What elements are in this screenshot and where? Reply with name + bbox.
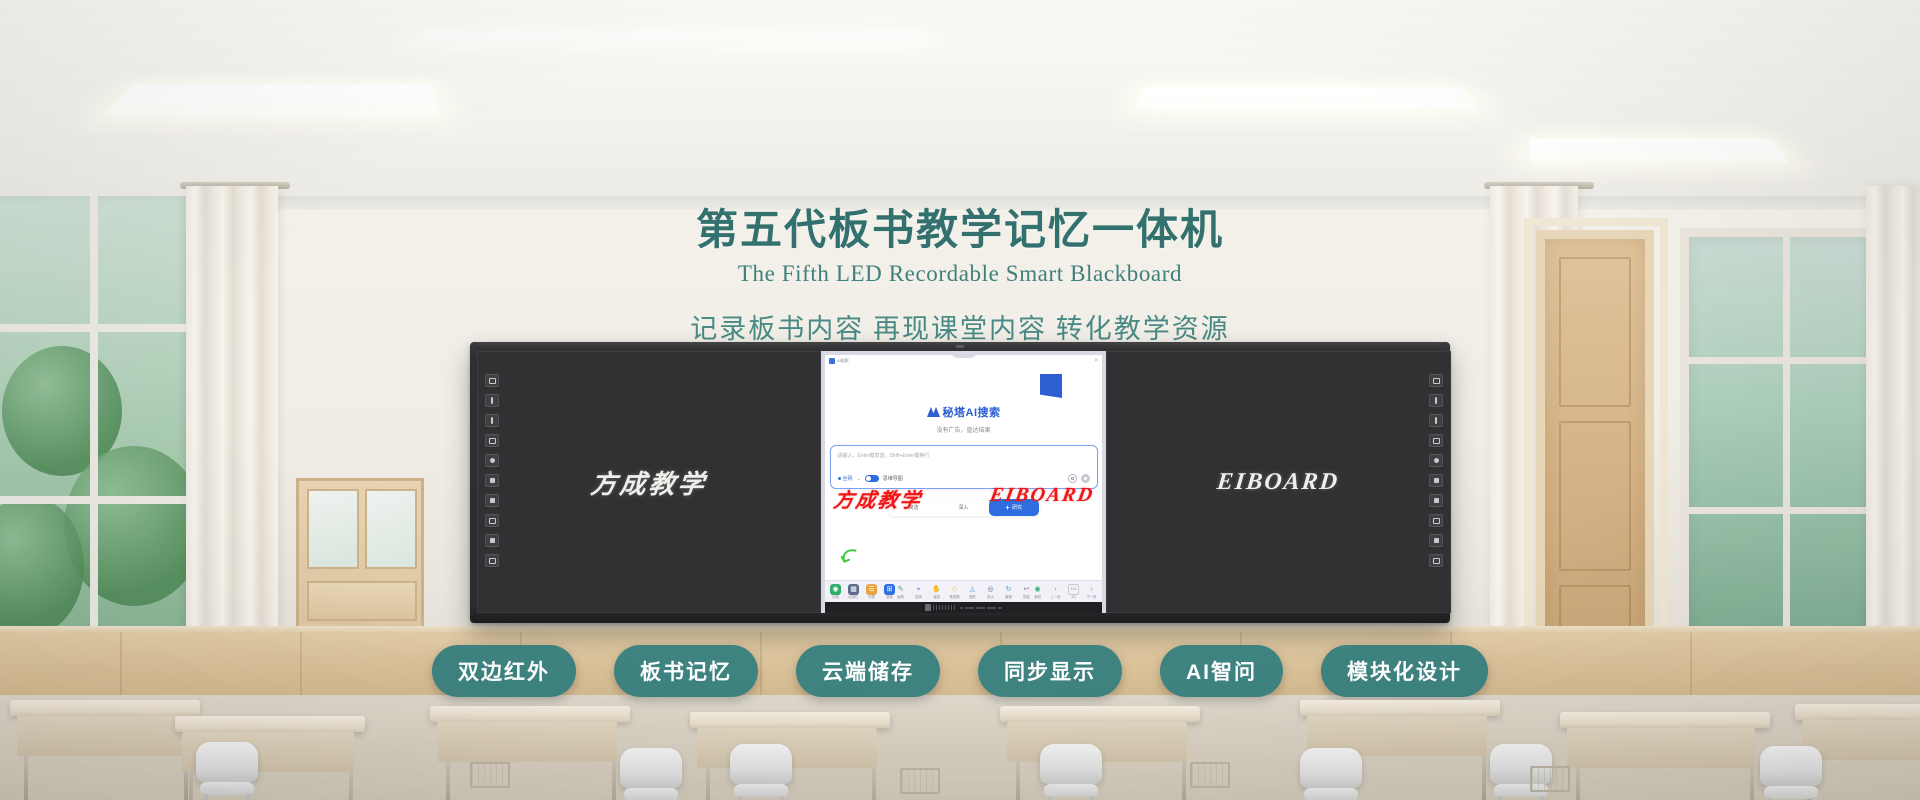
toolbar-label: 记录	[832, 596, 839, 599]
app-bottom-toolbar[interactable]: ◉ 记录 ▦ 应用栏 ☰ 列表	[825, 580, 1102, 602]
toolbar-item-eraser[interactable]: ◇ 橡皮擦	[949, 584, 960, 599]
handwriting-annotation-cn: 方成教学	[832, 484, 924, 513]
right-button-rail[interactable]	[1429, 374, 1443, 567]
toolbar-label: 应用栏	[848, 596, 858, 599]
grid-icon[interactable]	[1429, 534, 1443, 547]
app-window-title: AI搜索	[837, 359, 849, 363]
toolbar-label: 图形	[969, 596, 976, 599]
ceiling-light-panel	[104, 84, 439, 115]
curtain-far-right	[1866, 186, 1920, 664]
screen-base-bezel	[825, 602, 1102, 613]
brand-tagline: 没有广告，直达结果	[825, 425, 1102, 434]
grid-icon[interactable]	[485, 534, 499, 547]
toolbar-item-shape[interactable]: ◬ 图形	[967, 584, 978, 599]
toolbar-label: 选择	[915, 596, 922, 599]
toolbar-left-group[interactable]: ◉ 记录 ▦ 应用栏 ☰ 列表	[830, 584, 895, 599]
mindmap-toggle-label: 思维导图	[883, 475, 903, 482]
blackboard-left-panel[interactable]: 方成教学	[477, 351, 821, 613]
toolbar-label: 列表	[868, 596, 875, 599]
brand-name: 秘塔AI搜索	[943, 404, 1001, 420]
apps-icon: ▦	[848, 584, 859, 595]
prev-icon: ‹	[1050, 584, 1061, 595]
marker-icon[interactable]	[485, 414, 499, 427]
toolbar-item-next[interactable]: › 下一页	[1086, 584, 1097, 599]
ceiling-edge	[0, 196, 1920, 210]
pen-icon[interactable]	[1429, 394, 1443, 407]
undo-stroke-icon	[839, 546, 861, 568]
bookmark-flag-icon	[1040, 374, 1062, 398]
ceiling-light-panel	[413, 31, 927, 43]
left-button-rail[interactable]	[485, 374, 499, 567]
mode-button-deep[interactable]: 深入	[939, 499, 989, 516]
toolbar-label: 放大	[987, 596, 994, 599]
record-icon[interactable]	[1429, 454, 1443, 467]
toolbar-label: 1/1	[1071, 596, 1076, 599]
ai-search-app[interactable]: AI搜索 × 秘塔AI搜索 没有广告，直达结果 请输入，Enter键发送，Shi…	[825, 355, 1102, 602]
toolbar-label: 撤销	[1005, 596, 1012, 599]
toolbar-item-desktop[interactable]: ⊞ 桌面	[884, 584, 895, 599]
split-icon[interactable]	[485, 514, 499, 527]
refresh-icon[interactable]	[1429, 554, 1443, 567]
zoom-icon: ◎	[985, 584, 996, 595]
feature-pill-dual-infrared[interactable]: 双边红外	[432, 645, 576, 697]
scope-dot-icon	[838, 477, 841, 480]
app-logo-icon	[829, 358, 835, 364]
toolbar-item-hand[interactable]: ✋ 漫游	[931, 584, 942, 599]
feature-pill-row[interactable]: 双边红外 板书记忆 云端储存 同步显示 AI智问 模块化设计	[0, 645, 1920, 697]
curtain-left	[186, 186, 278, 656]
undo-icon: ↩	[1021, 584, 1032, 595]
close-icon[interactable]: ×	[1094, 358, 1098, 364]
chevron-down-icon[interactable]: ⌄	[857, 476, 861, 482]
record-icon: ◉	[830, 584, 841, 595]
toolbar-label: 上一页	[1050, 596, 1060, 599]
toolbar-right-group[interactable]: ◉ 录制 ‹ 上一页 1/1 1/1	[1032, 584, 1097, 599]
pen-icon[interactable]	[485, 394, 499, 407]
toolbar-label: 下一页	[1086, 596, 1096, 599]
scope-label: 全网	[843, 475, 853, 482]
blackboard-right-panel[interactable]: EIBOARD	[1106, 351, 1451, 613]
windows-icon: ⊞	[884, 584, 895, 595]
right-window	[1680, 228, 1880, 648]
app-content[interactable]: 秘塔AI搜索 没有广告，直达结果 请输入，Enter键发送，Shift+Ente…	[825, 366, 1102, 580]
desk-basket	[470, 762, 510, 788]
toolbar-item-page[interactable]: 1/1 1/1	[1068, 584, 1079, 599]
ceiling-light-panel	[1137, 87, 1481, 109]
feature-pill-sync-display[interactable]: 同步显示	[978, 645, 1122, 697]
page-indicator: 1/1	[1068, 584, 1079, 595]
feature-pill-board-memory[interactable]: 板书记忆	[614, 645, 758, 697]
toolbar-center-group[interactable]: ✎ 画笔 ⌖ 选择 ✋ 漫游	[895, 584, 1032, 599]
refresh-icon[interactable]	[485, 554, 499, 567]
battery-icon[interactable]	[485, 474, 499, 487]
camera-notch-icon	[951, 351, 977, 358]
toolbar-item-prev[interactable]: ‹ 上一页	[1050, 584, 1061, 599]
toolbar-item-capture[interactable]: ◉ 录制	[1032, 584, 1043, 599]
toolbar-item-select[interactable]: ⌖ 选择	[913, 584, 924, 599]
sensor-icon	[956, 345, 964, 348]
shape-icon: ◬	[967, 584, 978, 595]
scope-selector[interactable]: 全网	[838, 475, 853, 482]
page-icon[interactable]	[485, 434, 499, 447]
screen-icon[interactable]	[485, 374, 499, 387]
desk-basket	[1530, 766, 1570, 792]
toolbar-label: 恢复	[1023, 596, 1030, 599]
toolbar-item-list[interactable]: ☰ 列表	[866, 584, 877, 599]
feature-pill-ai-ask[interactable]: AI智问	[1160, 645, 1283, 697]
classroom-door[interactable]	[1536, 230, 1654, 660]
handwriting-annotation-en: EIBOARD	[988, 484, 1096, 507]
toolbar-label: 橡皮擦	[949, 596, 959, 599]
feature-pill-cloud-storage[interactable]: 云端储存	[796, 645, 940, 697]
toolbar-item-rotate[interactable]: ↻ 撤销	[1003, 584, 1014, 599]
camera-icon[interactable]	[1068, 474, 1077, 483]
battery-icon[interactable]	[1429, 474, 1443, 487]
toolbar-item-pen[interactable]: ✎ 画笔	[895, 584, 906, 599]
feature-pill-modular-design[interactable]: 模块化设计	[1321, 645, 1488, 697]
eraser-icon: ◇	[949, 584, 960, 595]
right-panel-chalk-text: EIBOARD	[1216, 469, 1341, 496]
toolbar-label: 画笔	[897, 596, 904, 599]
send-icon[interactable]	[1081, 474, 1090, 483]
toolbar-label: 桌面	[886, 596, 893, 599]
pen-icon: ✎	[895, 584, 906, 595]
base-lines-icon	[960, 607, 1002, 609]
search-input[interactable]: 请输入，Enter键发送，Shift+Enter键换行 全网 ⌄ 思	[830, 445, 1098, 489]
screen-icon[interactable]	[1429, 374, 1443, 387]
page-icon[interactable]	[1429, 434, 1443, 447]
desk-basket	[1190, 762, 1230, 788]
next-icon: ›	[1086, 584, 1097, 595]
split-icon[interactable]	[1429, 514, 1443, 527]
toolbar-item-apps[interactable]: ▦ 应用栏	[848, 584, 859, 599]
toolbar-label: 漫游	[933, 596, 940, 599]
toolbar-item-record[interactable]: ◉ 记录	[830, 584, 841, 599]
left-window	[0, 196, 194, 666]
smart-blackboard[interactable]: 方成教学 AI搜索 ×	[470, 342, 1450, 623]
brand-lockup: 秘塔AI搜索	[825, 404, 1102, 420]
board-top-bar	[477, 342, 1443, 350]
classroom-hero-scene: 第五代板书教学记忆一体机 The Fifth LED Recordable Sm…	[0, 0, 1920, 800]
search-placeholder: 请输入，Enter键发送，Shift+Enter键换行	[838, 452, 1090, 459]
interactive-screen[interactable]: AI搜索 × 秘塔AI搜索 没有广告，直达结果 请输入，Enter键发送，Shi…	[821, 351, 1106, 613]
square-icon[interactable]	[485, 494, 499, 507]
select-icon: ⌖	[913, 584, 924, 595]
metaso-logo-icon	[927, 407, 940, 417]
rotate-icon: ↻	[1003, 584, 1014, 595]
left-panel-chalk-text: 方成教学	[589, 464, 709, 501]
record-icon[interactable]	[485, 454, 499, 467]
toolbar-label: 录制	[1034, 596, 1041, 599]
desk-basket	[900, 768, 940, 794]
base-badge-icon	[925, 604, 956, 611]
toolbar-item-undo[interactable]: ↩ 恢复	[1021, 584, 1032, 599]
toolbar-item-zoom[interactable]: ◎ 放大	[985, 584, 996, 599]
hand-icon: ✋	[931, 584, 942, 595]
mindmap-toggle[interactable]	[865, 475, 879, 482]
record-icon: ◉	[1032, 584, 1043, 595]
ceiling-light-panel	[1530, 139, 1790, 163]
square-icon[interactable]	[1429, 494, 1443, 507]
list-icon: ☰	[866, 584, 877, 595]
marker-icon[interactable]	[1429, 414, 1443, 427]
